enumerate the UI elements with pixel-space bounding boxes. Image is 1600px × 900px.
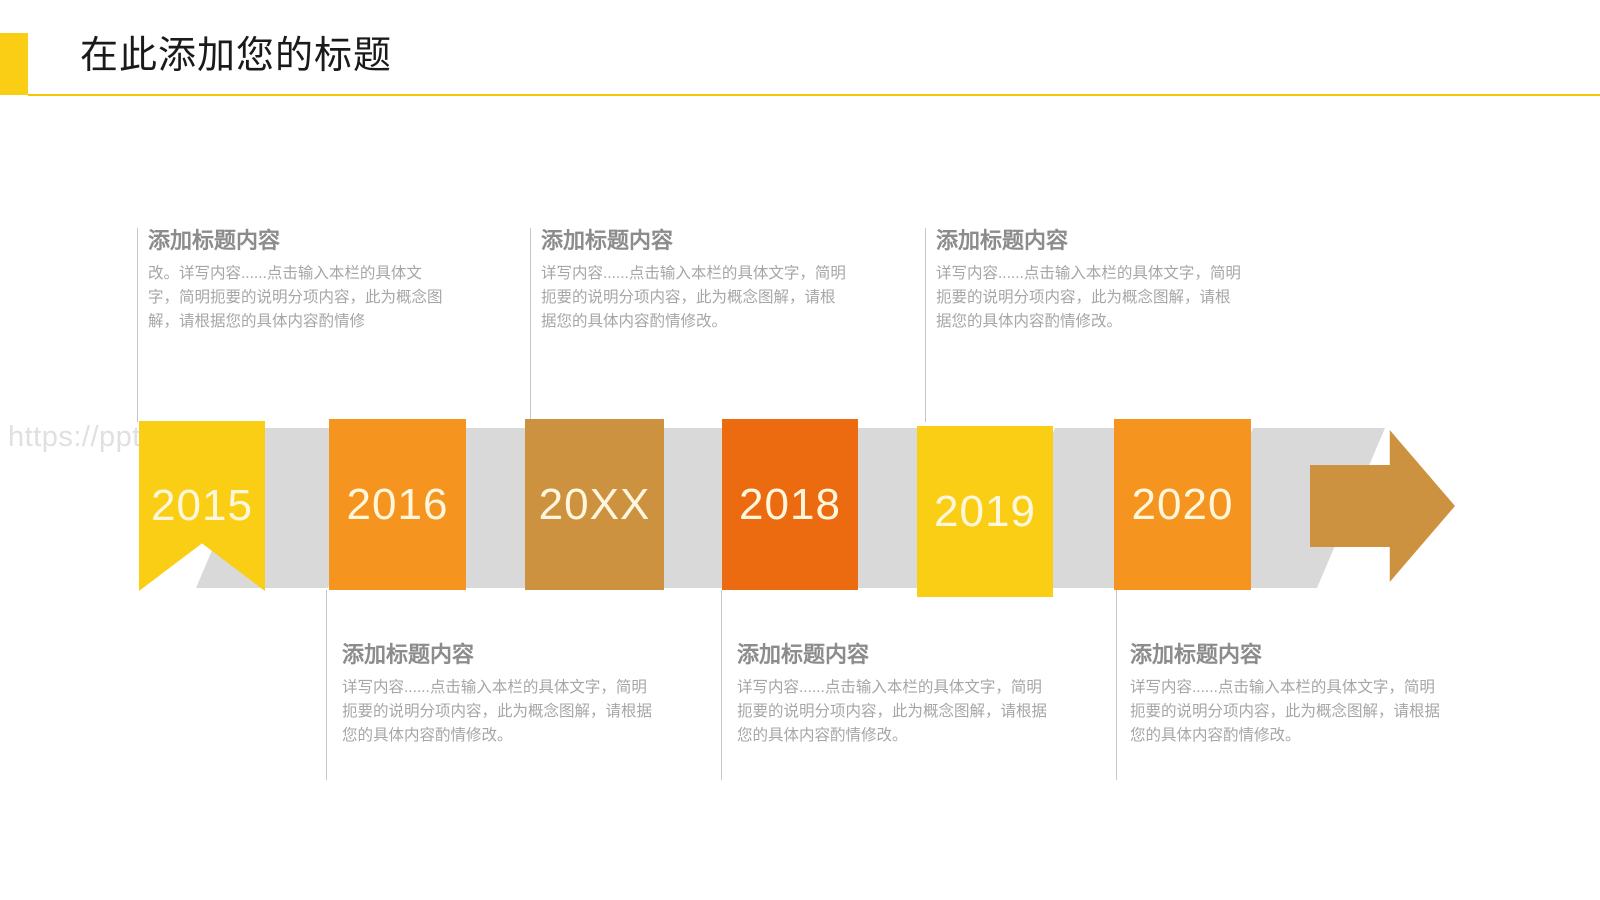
caption-top-2-title: 添加标题内容: [541, 226, 847, 256]
caption-bottom-1-body: 详写内容......点击输入本栏的具体文字，简明扼要的说明分项内容，此为概念图解…: [342, 676, 652, 748]
caption-top-3: 添加标题内容 详写内容......点击输入本栏的具体文字，简明扼要的说明分项内容…: [936, 226, 1242, 334]
caption-top-1: 添加标题内容 改。详写内容......点击输入本栏的具体文字，简明扼要的说明分项…: [148, 226, 448, 334]
caption-bottom-1: 添加标题内容 详写内容......点击输入本栏的具体文字，简明扼要的说明分项内容…: [342, 640, 652, 748]
timeline-step-2018-label: 2018: [739, 483, 841, 527]
timeline-step-2018[interactable]: 2018: [722, 419, 858, 590]
connector-line-top-1: [137, 228, 138, 422]
timeline-step-2019-label: 2019: [934, 490, 1036, 534]
caption-top-2-body: 详写内容......点击输入本栏的具体文字，简明扼要的说明分项内容，此为概念图解…: [541, 262, 847, 334]
timeline-step-20xx[interactable]: 20XX: [525, 419, 664, 590]
caption-top-1-body: 改。详写内容......点击输入本栏的具体文字，简明扼要的说明分项内容，此为概念…: [148, 262, 448, 334]
caption-top-3-body: 详写内容......点击输入本栏的具体文字，简明扼要的说明分项内容，此为概念图解…: [936, 262, 1242, 334]
timeline-diagram: 2015 2016 20XX 2018 2019 2020 添加标题内容 改。详…: [0, 0, 1600, 900]
timeline-step-2016[interactable]: 2016: [329, 419, 466, 590]
caption-bottom-3-title: 添加标题内容: [1130, 640, 1440, 670]
timeline-step-2019[interactable]: 2019: [917, 426, 1053, 597]
timeline-step-2020-label: 2020: [1132, 483, 1234, 527]
connector-line-bottom-1: [326, 590, 327, 780]
caption-top-1-title: 添加标题内容: [148, 226, 448, 256]
caption-bottom-2-body: 详写内容......点击输入本栏的具体文字，简明扼要的说明分项内容，此为概念图解…: [737, 676, 1047, 748]
connector-line-top-2: [530, 228, 531, 422]
timeline-step-2015[interactable]: 2015: [139, 421, 265, 591]
caption-bottom-3: 添加标题内容 详写内容......点击输入本栏的具体文字，简明扼要的说明分项内容…: [1130, 640, 1440, 748]
connector-line-bottom-2: [721, 590, 722, 780]
caption-bottom-1-title: 添加标题内容: [342, 640, 652, 670]
timeline-step-2016-label: 2016: [347, 483, 449, 527]
connector-line-bottom-3: [1116, 590, 1117, 780]
caption-bottom-2-title: 添加标题内容: [737, 640, 1047, 670]
caption-bottom-3-body: 详写内容......点击输入本栏的具体文字，简明扼要的说明分项内容，此为概念图解…: [1130, 676, 1440, 748]
connector-line-top-3: [925, 228, 926, 422]
caption-bottom-2: 添加标题内容 详写内容......点击输入本栏的具体文字，简明扼要的说明分项内容…: [737, 640, 1047, 748]
caption-top-3-title: 添加标题内容: [936, 226, 1242, 256]
timeline-step-20xx-label: 20XX: [539, 483, 651, 527]
timeline-step-2015-label: 2015: [151, 484, 253, 528]
timeline-step-2020[interactable]: 2020: [1114, 419, 1251, 590]
caption-top-2: 添加标题内容 详写内容......点击输入本栏的具体文字，简明扼要的说明分项内容…: [541, 226, 847, 334]
